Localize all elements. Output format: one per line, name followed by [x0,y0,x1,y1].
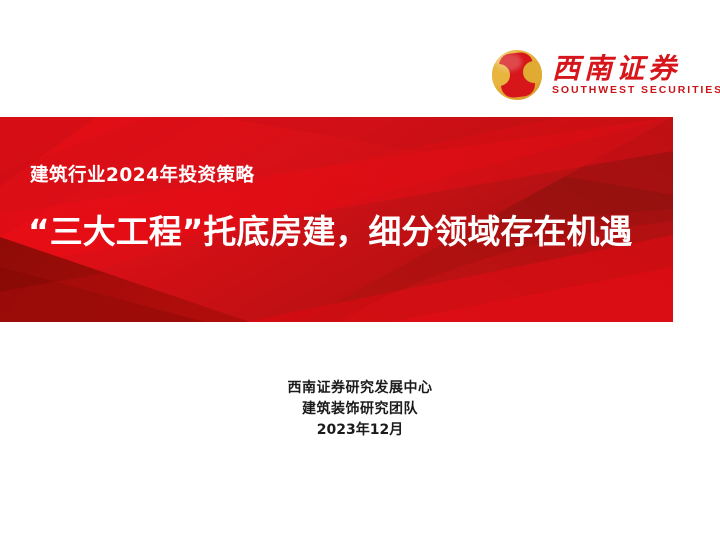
logo-chinese-name: 西南证券 [552,54,720,83]
report-title: “三大工程”托底房建，细分领域存在机遇 [28,215,632,248]
swirl-logo-icon [492,50,542,100]
footer-team: 建筑装饰研究团队 [0,399,720,420]
swirl-right-notch [523,61,542,83]
report-subtitle: 建筑行业2024年投资策略 [30,161,255,187]
company-logo: 西南证券 SOUTHWEST SECURITIES [492,46,697,104]
banner-text-group: 建筑行业2024年投资策略 “三大工程”托底房建，细分领域存在机遇 [0,117,673,322]
logo-gloss-highlight [496,53,522,71]
presentation-slide: 西南证券 SOUTHWEST SECURITIES [0,0,720,540]
footer-date: 2023年12月 [0,420,720,441]
footer-organization: 西南证券研究发展中心 [0,378,720,399]
logo-english-name: SOUTHWEST SECURITIES [552,85,720,97]
logo-wordmark: 西南证券 SOUTHWEST SECURITIES [552,54,720,97]
footer-block: 西南证券研究发展中心 建筑装饰研究团队 2023年12月 [0,378,720,441]
title-banner: 建筑行业2024年投资策略 “三大工程”托底房建，细分领域存在机遇 [0,117,673,322]
